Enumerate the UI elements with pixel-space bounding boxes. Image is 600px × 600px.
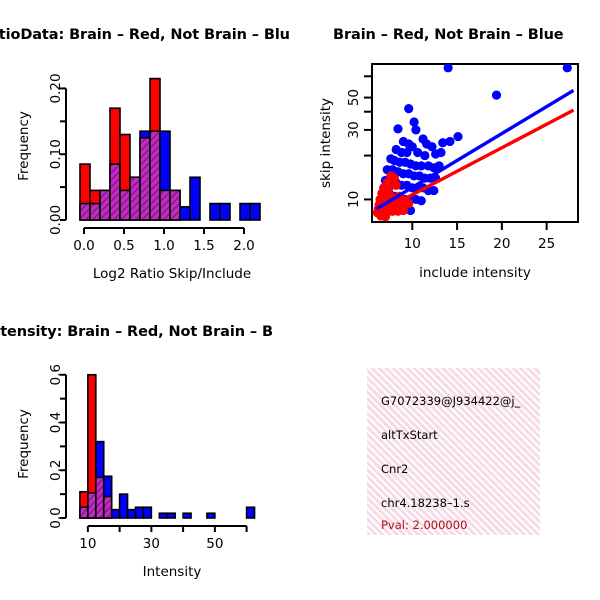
scatter-plot: 10305010152025include intensityskip inte… — [300, 50, 600, 300]
svg-text:0.2: 0.2 — [48, 460, 64, 481]
svg-text:10: 10 — [79, 536, 96, 552]
hist-ratio-plot: 0.000.100.200.00.51.01.52.0Log2 Ratio Sk… — [0, 50, 300, 300]
scatter-title: Brain – Red, Not Brain – Blue — [333, 27, 564, 43]
svg-text:0.5: 0.5 — [113, 238, 134, 254]
svg-text:50: 50 — [346, 89, 362, 106]
svg-text:10: 10 — [404, 236, 421, 252]
annotation-line-2: altTxStart — [381, 428, 438, 442]
svg-text:Frequency: Frequency — [16, 409, 32, 479]
svg-text:10: 10 — [346, 191, 362, 208]
svg-text:20: 20 — [493, 236, 510, 252]
svg-text:include intensity: include intensity — [419, 265, 531, 281]
svg-text:2.0: 2.0 — [233, 238, 254, 254]
hist-intensity-plot: 0.00.20.40.6103050IntensityFrequency — [0, 348, 300, 598]
annotation-line-3: Cnr2 — [381, 462, 408, 476]
hist-ratio-panel: 0.000.100.200.00.51.01.52.0Log2 Ratio Sk… — [0, 50, 300, 300]
pval-line: Pval: 2.000000 — [381, 518, 467, 532]
svg-text:skip intensity: skip intensity — [318, 98, 334, 188]
svg-text:Frequency: Frequency — [16, 111, 32, 181]
svg-text:50: 50 — [206, 536, 223, 552]
svg-text:Log2 Ratio Skip/Include: Log2 Ratio Skip/Include — [93, 266, 251, 282]
svg-text:0.6: 0.6 — [48, 364, 64, 385]
svg-text:15: 15 — [448, 236, 465, 252]
svg-text:0.10: 0.10 — [48, 139, 64, 169]
annotation-line-4: chr4.18238–1.s — [381, 496, 470, 510]
svg-text:0.20: 0.20 — [48, 73, 64, 103]
svg-text:1.5: 1.5 — [193, 238, 214, 254]
svg-text:25: 25 — [538, 236, 555, 252]
hist-ratio-title: RatioData: Brain – Red, Not Brain – Blu — [0, 27, 290, 43]
svg-text:Intensity: Intensity — [143, 564, 202, 580]
svg-text:30: 30 — [346, 121, 362, 138]
annotation-line-1: G7072339@J934422@j_ — [381, 394, 520, 408]
hist-intensity-panel: 0.00.20.40.6103050IntensityFrequency — [0, 348, 300, 598]
svg-text:0.0: 0.0 — [73, 238, 94, 254]
hist-intensity-title: ne Itensity: Brain – Red, Not Brain – B — [0, 324, 273, 340]
scatter-panel: 10305010152025include intensityskip inte… — [300, 50, 600, 300]
svg-text:0.4: 0.4 — [48, 412, 64, 433]
annotation-box: G7072339@J934422@j_altTxStartCnr2chr4.18… — [367, 368, 540, 535]
svg-text:0.00: 0.00 — [48, 205, 64, 235]
svg-text:1.0: 1.0 — [153, 238, 174, 254]
svg-text:0.0: 0.0 — [48, 507, 64, 528]
svg-text:30: 30 — [143, 536, 160, 552]
